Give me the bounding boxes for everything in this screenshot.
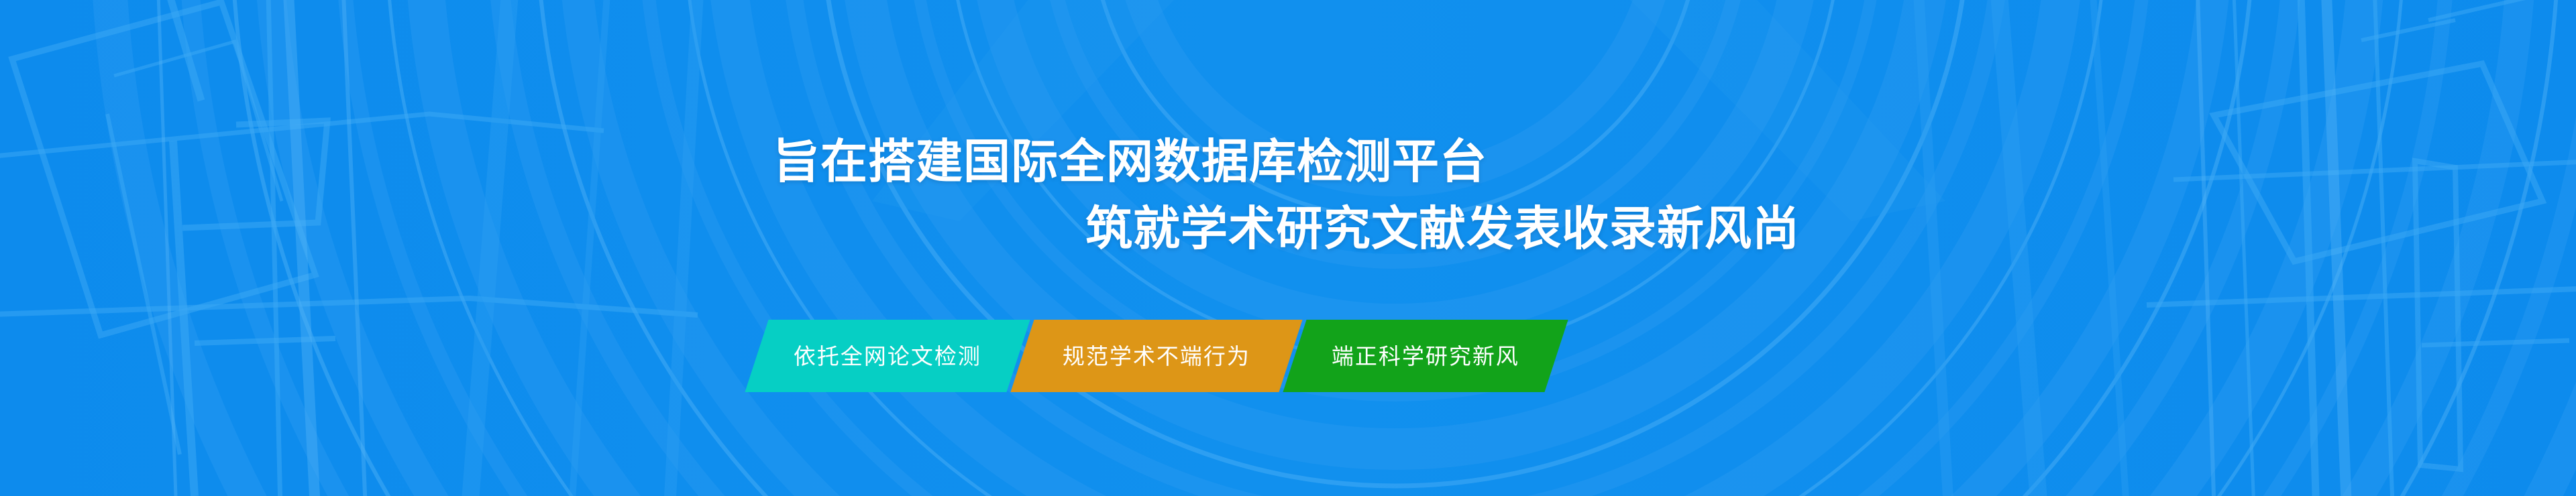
feature-tab-misconduct[interactable]: 规范学术不端行为	[1010, 320, 1302, 392]
feature-tab-group: 依托全网论文检测 规范学术不端行为 端正科学研究新风	[757, 320, 1556, 392]
feature-tab-integrity-label: 端正科学研究新风	[1332, 345, 1519, 367]
background-decoration	[0, 0, 2576, 496]
feature-tab-detection-label: 依托全网论文检测	[794, 345, 981, 367]
feature-tab-integrity[interactable]: 端正科学研究新风	[1283, 320, 1568, 392]
feature-tab-misconduct-label: 规范学术不端行为	[1063, 345, 1250, 367]
feature-tab-detection[interactable]: 依托全网论文检测	[745, 320, 1030, 392]
promo-banner: 旨在搭建国际全网数据库检测平台 筑就学术研究文献发表收录新风尚 依托全网论文检测…	[0, 0, 2576, 496]
